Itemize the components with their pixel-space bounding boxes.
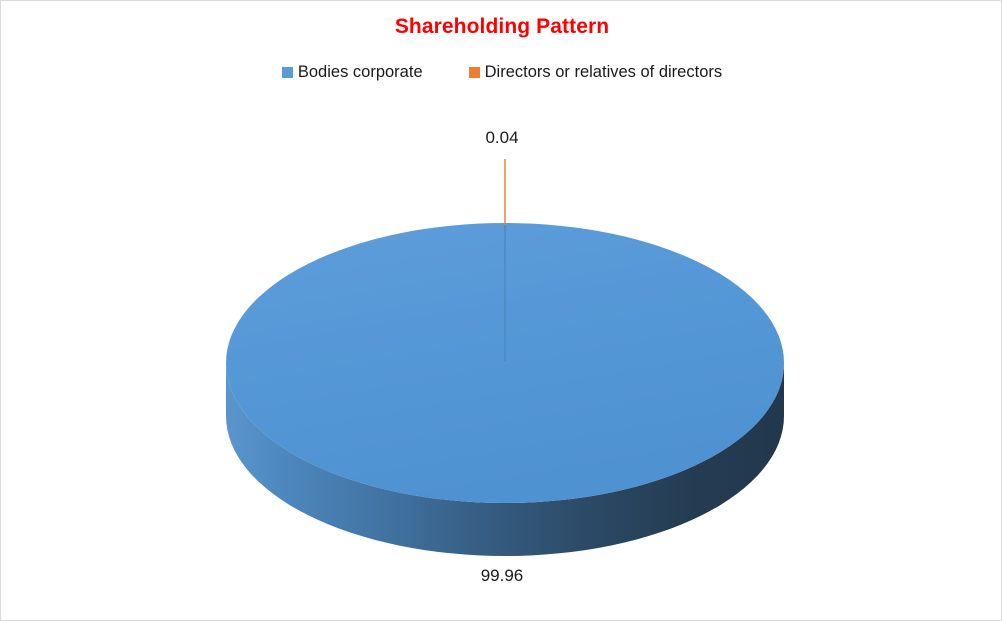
chart-container: Shareholding Pattern Bodies corporate Di… (0, 0, 1002, 621)
data-label-directors-or-relatives: 0.04 (1, 129, 1002, 146)
data-label-bodies-corporate: 99.96 (1, 567, 1002, 584)
pie-chart-plot (1, 1, 1002, 621)
